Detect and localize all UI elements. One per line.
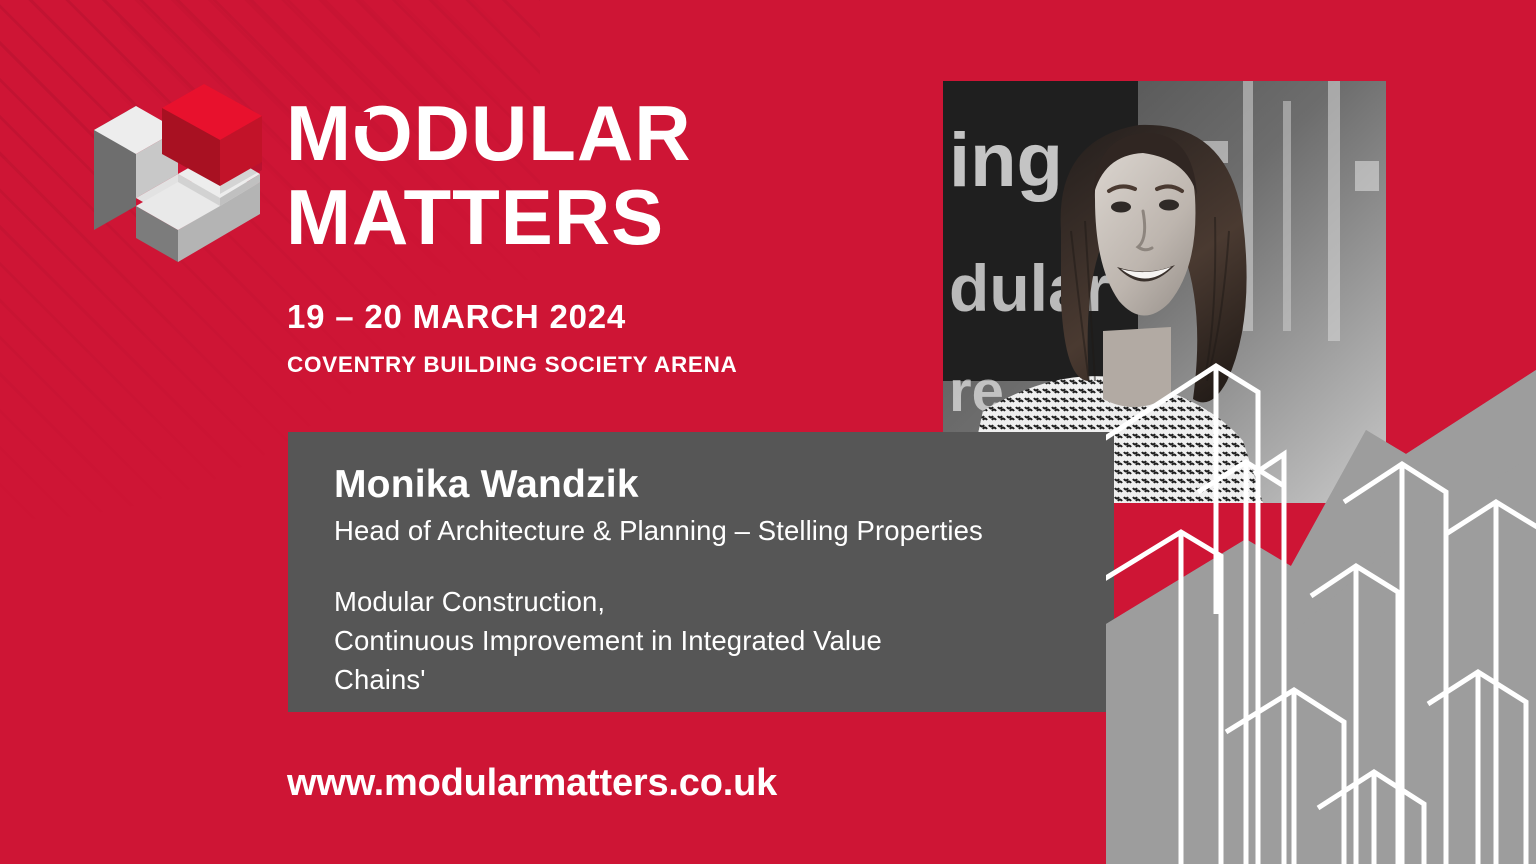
talk-title-line-3: Chains' [334,660,882,699]
speaker-name: Monika Wandzik [334,463,639,507]
wordmark-line-matters: MATTERS [286,173,664,261]
website-url[interactable]: www.modularmatters.co.uk [287,762,777,805]
wordmark-line-modular: MODULAR [286,92,692,177]
speaker-role: Head of Architecture & Planning – Stelli… [334,515,983,547]
talk-title-line-1: Modular Construction, [334,582,882,621]
talk-title-line-2: Continuous Improvement in Integrated Val… [334,621,882,660]
promo-graphic-canvas: MODULAR MATTERS 19 – 20 MARCH 2024 COVEN… [0,0,1536,864]
modular-matters-wordmark: MODULAR MATTERS [286,92,926,272]
speaker-info-panel: Monika Wandzik Head of Architecture & Pl… [288,432,1114,712]
talk-title: Modular Construction, Continuous Improve… [334,582,882,699]
modular-matters-logo-mark [86,58,268,270]
event-venue: COVENTRY BUILDING SOCIETY ARENA [287,352,738,378]
event-dates: 19 – 20 MARCH 2024 [287,298,626,336]
